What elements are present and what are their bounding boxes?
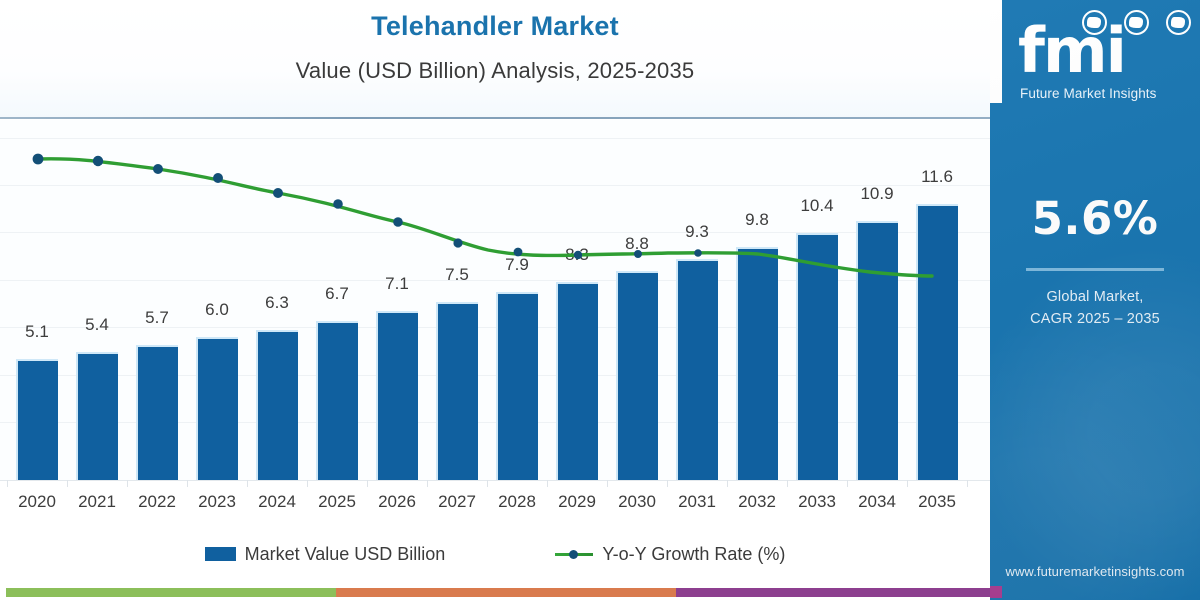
fmi-logo[interactable]: fmi Future Market Insights xyxy=(1002,8,1200,108)
line-swatch-icon xyxy=(555,547,593,561)
xlabel-2033: 2033 xyxy=(787,492,847,512)
bar-2021[interactable] xyxy=(76,352,118,480)
legend-item-market-value[interactable]: Market Value USD Billion xyxy=(205,544,446,565)
tick xyxy=(907,480,908,487)
stripe-segment-green xyxy=(6,588,336,597)
bar-value-2031: 9.3 xyxy=(667,222,727,242)
bar-2035[interactable] xyxy=(916,204,958,480)
bar-value-2020: 5.1 xyxy=(7,322,67,342)
xlabel-2031: 2031 xyxy=(667,492,727,512)
bar-2030[interactable] xyxy=(616,271,658,480)
bar-2033[interactable] xyxy=(796,233,838,480)
tick xyxy=(247,480,248,487)
bar-value-2026: 7.1 xyxy=(367,274,427,294)
cagr-caption-line-2: CAGR 2025 – 2035 xyxy=(990,308,1200,330)
bar-value-2021: 5.4 xyxy=(67,315,127,335)
bar-2024[interactable] xyxy=(256,330,298,480)
bar-swatch-icon xyxy=(205,547,236,561)
tick xyxy=(367,480,368,487)
x-axis-labels: 2020 2021 2022 2023 2024 2025 2026 2027 … xyxy=(0,492,990,522)
legend-item-growth-rate[interactable]: Y-o-Y Growth Rate (%) xyxy=(555,544,785,565)
page-title: Telehandler Market xyxy=(0,11,990,42)
xlabel-2026: 2026 xyxy=(367,492,427,512)
chart-legend: Market Value USD Billion Y-o-Y Growth Ra… xyxy=(0,538,990,570)
stripe-segment-purple xyxy=(676,588,990,597)
tick xyxy=(307,480,308,487)
bar-2022[interactable] xyxy=(136,345,178,480)
bar-value-2030: 8.8 xyxy=(607,234,667,254)
page-subtitle: Value (USD Billion) Analysis, 2025-2035 xyxy=(0,58,990,84)
cagr-caption-line-1: Global Market, xyxy=(990,286,1200,308)
brand-sidebar: fmi Future Market Insights 5.6% Global M… xyxy=(990,0,1200,600)
tick xyxy=(427,480,428,487)
bar-2028[interactable] xyxy=(496,292,538,480)
xlabel-2020: 2020 xyxy=(7,492,67,512)
bar-value-2022: 5.7 xyxy=(127,308,187,328)
tick xyxy=(67,480,68,487)
bar-value-2032: 9.8 xyxy=(727,210,787,230)
cagr-value: 5.6% xyxy=(990,192,1200,245)
xlabel-2021: 2021 xyxy=(67,492,127,512)
bottom-color-stripe xyxy=(0,588,990,597)
bar-value-2035: 11.6 xyxy=(907,167,967,187)
tick xyxy=(727,480,728,487)
bar-2031[interactable] xyxy=(676,259,718,480)
bar-2026[interactable] xyxy=(376,311,418,480)
cagr-divider xyxy=(1026,268,1164,271)
xlabel-2030: 2030 xyxy=(607,492,667,512)
bar-value-2034: 10.9 xyxy=(847,184,907,204)
xlabel-2029: 2029 xyxy=(547,492,607,512)
xlabel-2023: 2023 xyxy=(187,492,247,512)
legend-label-market-value: Market Value USD Billion xyxy=(245,544,446,565)
tick xyxy=(667,480,668,487)
tick xyxy=(127,480,128,487)
x-axis-line xyxy=(0,480,990,481)
logo-wordmark: fmi xyxy=(1018,20,1125,82)
tick xyxy=(547,480,548,487)
tick xyxy=(847,480,848,487)
bar-value-2029: 8.3 xyxy=(547,245,607,265)
sidebar-bottom-accent xyxy=(990,586,1002,598)
logo-tagline: Future Market Insights xyxy=(1020,86,1157,101)
tick xyxy=(607,480,608,487)
bars-layer xyxy=(0,120,990,480)
chart-header: Telehandler Market Value (USD Billion) A… xyxy=(0,0,990,118)
chart-panel: Telehandler Market Value (USD Billion) A… xyxy=(0,0,990,600)
bar-value-2028: 7.9 xyxy=(487,255,547,275)
sidebar-notch xyxy=(990,0,1002,103)
bar-value-2025: 6.7 xyxy=(307,284,367,304)
bar-2029[interactable] xyxy=(556,282,598,480)
legend-label-growth-rate: Y-o-Y Growth Rate (%) xyxy=(602,544,785,565)
bar-value-2027: 7.5 xyxy=(427,265,487,285)
xlabel-2035: 2035 xyxy=(907,492,967,512)
stripe-segment-orange xyxy=(336,588,676,597)
tick xyxy=(7,480,8,487)
xlabel-2034: 2034 xyxy=(847,492,907,512)
globe-icon-2 xyxy=(1124,10,1149,35)
tick xyxy=(787,480,788,487)
xlabel-2025: 2025 xyxy=(307,492,367,512)
bar-2027[interactable] xyxy=(436,302,478,480)
bar-2034[interactable] xyxy=(856,221,898,480)
infographic-root: Telehandler Market Value (USD Billion) A… xyxy=(0,0,1200,600)
tick xyxy=(967,480,968,487)
tick xyxy=(487,480,488,487)
xlabel-2032: 2032 xyxy=(727,492,787,512)
xlabel-2022: 2022 xyxy=(127,492,187,512)
globe-icon-3 xyxy=(1166,10,1191,35)
tick xyxy=(187,480,188,487)
bar-value-2023: 6.0 xyxy=(187,300,247,320)
header-divider xyxy=(0,117,990,119)
xlabel-2027: 2027 xyxy=(427,492,487,512)
bar-2025[interactable] xyxy=(316,321,358,480)
bar-2020[interactable] xyxy=(16,359,58,480)
bar-value-2033: 10.4 xyxy=(787,196,847,216)
bar-value-2024: 6.3 xyxy=(247,293,307,313)
cagr-caption: Global Market, CAGR 2025 – 2035 xyxy=(990,286,1200,330)
bar-2023[interactable] xyxy=(196,337,238,480)
bar-2032[interactable] xyxy=(736,247,778,480)
xlabel-2028: 2028 xyxy=(487,492,547,512)
site-url[interactable]: www.futuremarketinsights.com xyxy=(990,564,1200,579)
xlabel-2024: 2024 xyxy=(247,492,307,512)
